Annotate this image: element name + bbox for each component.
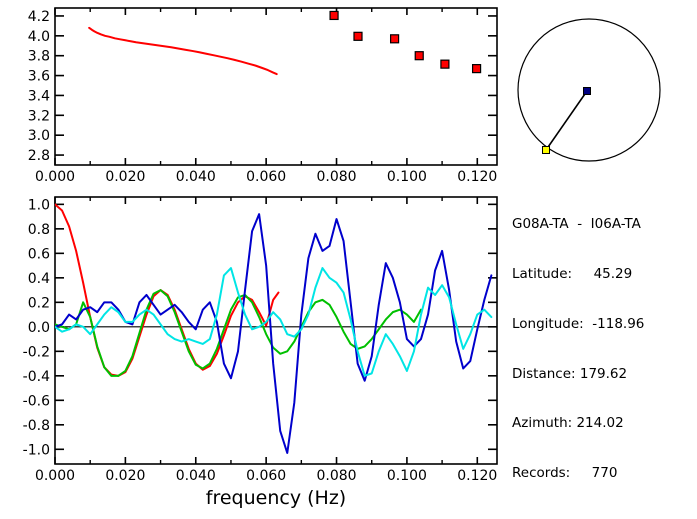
x-tick-label: 0.020 [105, 468, 145, 484]
y-tick-label: -0.2 [23, 344, 50, 360]
y-tick-label: -0.8 [23, 418, 50, 434]
y-tick-label: -0.4 [23, 369, 50, 385]
y-tick-label: 3.4 [28, 88, 50, 104]
data-point-marker [391, 35, 399, 43]
y-tick-label: 0.6 [28, 246, 50, 262]
latitude-row: Latitude: 45.29 [512, 266, 697, 283]
x-tick-label: 0.000 [35, 169, 75, 185]
y-tick-label: 4.2 [28, 9, 50, 25]
y-tick-label: 3.0 [28, 128, 50, 144]
records-row: Records: 770 [512, 465, 697, 482]
y-tick-label: -0.6 [23, 393, 50, 409]
cross-correlation-plot-series [55, 204, 491, 453]
y-tick-label: -1.0 [23, 442, 50, 458]
dispersion-plot-series [89, 11, 480, 74]
y-tick-label: 3.8 [28, 49, 50, 65]
station-pair-title: G08A-TA - I06A-TA [512, 216, 697, 233]
y-tick-label: 1.0 [28, 197, 50, 213]
x-tick-label: 0.060 [246, 169, 286, 185]
station-a-marker [584, 88, 591, 95]
x-tick-label: 0.100 [387, 468, 427, 484]
x-tick-label: 0.120 [457, 169, 497, 185]
data-point-marker [415, 52, 423, 60]
distance-row: Distance: 179.62 [512, 366, 697, 383]
cross-correlation-plot: 0.0000.0200.0400.0600.0800.1000.120-1.0-… [23, 197, 498, 484]
daily-correlation-blue [55, 214, 491, 453]
y-tick-label: 2.8 [28, 148, 50, 164]
x-tick-label: 0.040 [176, 468, 216, 484]
x-tick-label: 0.000 [35, 468, 75, 484]
y-tick-label: 4.0 [28, 29, 50, 45]
data-point-marker [330, 11, 338, 19]
x-tick-label: 0.080 [316, 169, 356, 185]
azimuth-row: Azimuth: 214.02 [512, 415, 697, 432]
great-circle-path [546, 91, 587, 150]
y-tick-label: 0.0 [28, 320, 50, 336]
group-velocity-curve [89, 28, 277, 74]
station-pair-info-panel: G08A-TA - I06A-TA Latitude: 45.29 Longit… [512, 183, 697, 498]
cross-correlation-plot-frame [55, 197, 497, 464]
y-tick-label: 3.6 [28, 69, 50, 85]
x-tick-label: 0.080 [316, 468, 356, 484]
y-tick-label: 0.2 [28, 295, 50, 311]
y-tick-label: 0.4 [28, 271, 50, 287]
data-point-marker [354, 32, 362, 40]
dispersion-plot-frame [55, 8, 497, 165]
great-circle-inset [518, 19, 660, 161]
data-point-marker [441, 60, 449, 68]
x-tick-label: 0.020 [105, 169, 145, 185]
x-tick-label: 0.040 [176, 169, 216, 185]
dispersion-plot: 0.0000.0200.0400.0600.0800.1000.1202.83.… [28, 8, 498, 185]
x-tick-label: 0.100 [387, 169, 427, 185]
longitude-row: Longitude: -118.96 [512, 316, 697, 333]
y-tick-label: 3.2 [28, 108, 50, 124]
y-tick-label: 0.8 [28, 222, 50, 238]
station-b-marker [543, 147, 550, 154]
x-axis-label: frequency (Hz) [55, 487, 497, 509]
x-tick-label: 0.060 [246, 468, 286, 484]
data-point-marker [473, 65, 481, 73]
x-tick-label: 0.120 [457, 468, 497, 484]
